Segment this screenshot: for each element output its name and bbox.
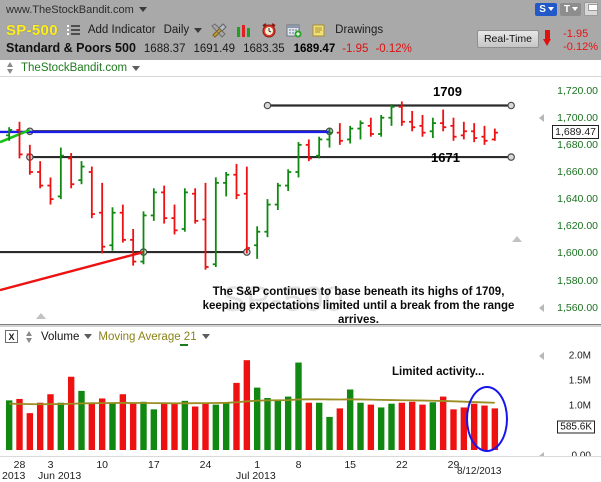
quote-low: 1683.35	[243, 43, 285, 55]
quote-change-pct: -0.12%	[375, 43, 411, 55]
chevron-down-icon[interactable]	[202, 334, 210, 339]
updown-arrows-icon[interactable]	[6, 62, 15, 74]
last-date-label: 8/12/2013	[457, 466, 502, 477]
scroll-up-icon-2[interactable]	[36, 313, 46, 319]
close-volume-button[interactable]: X	[5, 330, 18, 343]
url-bar: www.TheStockBandit.com S T	[0, 0, 601, 19]
current-price-tag: 1,689.47	[552, 125, 599, 139]
price-axis-label: 1,620.00	[557, 220, 598, 232]
pane-divider-shadow	[0, 325, 601, 327]
tools-icon[interactable]	[211, 23, 227, 38]
site-row: TheStockBandit.com	[0, 60, 601, 77]
volume-chart-pane[interactable]	[0, 346, 601, 456]
axis-tick-marker	[539, 304, 544, 312]
support-level-label: 1671	[431, 150, 460, 165]
window-controls: S T	[535, 2, 598, 16]
price-axis-label: 1,580.00	[557, 275, 598, 287]
price-axis-label: 1,600.00	[557, 247, 598, 259]
site-url[interactable]: www.TheStockBandit.com	[6, 4, 134, 16]
site-row-label[interactable]: TheStockBandit.com	[21, 62, 127, 74]
price-axis-label: 1,720.00	[557, 85, 598, 97]
month-axis-label: 2013	[2, 470, 25, 482]
date-axis[interactable]: 283101724181522292013Jun 2013Jul 20138/1…	[0, 456, 601, 482]
bar-chart-icon[interactable]	[236, 23, 252, 38]
price-axis-label: 1,660.00	[557, 166, 598, 178]
instrument-name: Standard & Poors 500	[6, 41, 136, 55]
volume-axis[interactable]: 2.0M1.5M1.0M0.00585.6K	[529, 340, 601, 460]
month-axis-label: Jun 2013	[38, 470, 81, 482]
down-arrow-icon	[543, 30, 552, 47]
volume-axis-label: 1.5M	[569, 376, 591, 387]
price-axis[interactable]: 1,720.001,700.001,680.001,660.001,640.00…	[529, 77, 601, 324]
date-axis-label: 10	[96, 459, 108, 471]
resistance-level-label: 1709	[433, 84, 462, 99]
updown-arrows-icon[interactable]	[25, 331, 34, 343]
price-axis-label: 1,560.00	[557, 302, 598, 314]
date-axis-label: 15	[344, 459, 356, 471]
quote-open: 1688.37	[144, 43, 186, 55]
chevron-down-icon[interactable]	[139, 7, 147, 12]
quote-last: 1689.47	[294, 43, 336, 55]
save-disk-icon[interactable]	[584, 2, 598, 16]
real-time-button[interactable]: Real-Time	[477, 30, 539, 48]
volume-header: X Volume Moving Average 21	[0, 328, 601, 345]
alarm-clock-icon[interactable]	[261, 23, 277, 38]
date-axis-label: 22	[396, 459, 408, 471]
volume-annotation: Limited activity...	[392, 366, 484, 378]
badge-t-icon[interactable]: T	[560, 3, 581, 16]
price-axis-label: 1,700.00	[557, 112, 598, 124]
timeframe-select[interactable]: Daily	[164, 24, 190, 36]
price-axis-label: 1,680.00	[557, 139, 598, 151]
date-axis-label: 24	[200, 459, 212, 471]
watchlist-icon[interactable]	[67, 25, 80, 36]
volume-highlight-ellipse	[466, 386, 508, 452]
chevron-down-icon[interactable]	[84, 334, 92, 339]
volume-ma-label[interactable]: Moving Average 21	[98, 331, 196, 343]
add-indicator-button[interactable]: Add Indicator	[88, 24, 156, 36]
volume-series	[0, 346, 601, 456]
volume-axis-label: 2.0M	[569, 351, 591, 362]
chevron-down-icon[interactable]	[132, 66, 140, 71]
stock-chart-app: www.TheStockBandit.com S T SP-500 Add In…	[0, 0, 601, 482]
header-change-pct: -0.12%	[563, 41, 598, 54]
quote-high: 1691.49	[193, 43, 235, 55]
volume-axis-label: 1.0M	[569, 401, 591, 412]
symbol-label[interactable]: SP-500	[6, 22, 58, 39]
date-axis-label: 17	[148, 459, 160, 471]
quote-change: -1.95	[342, 43, 368, 55]
badge-s-icon[interactable]: S	[535, 3, 557, 16]
current-volume-tag: 585.6K	[557, 420, 595, 433]
chevron-down-icon[interactable]	[194, 28, 202, 33]
drawings-button[interactable]: Drawings	[335, 24, 383, 36]
axis-tick-marker	[539, 352, 544, 360]
calendar-add-icon[interactable]	[286, 23, 302, 38]
axis-tick-marker	[539, 114, 544, 122]
price-axis-label: 1,640.00	[557, 193, 598, 205]
date-axis-label: 8	[296, 459, 302, 471]
notes-icon[interactable]	[311, 23, 327, 38]
price-annotation: The S&P continues to base beneath its hi…	[201, 285, 516, 327]
header-change-abs: -1.95	[563, 28, 598, 41]
scroll-up-icon[interactable]	[512, 236, 522, 242]
header-change: -1.95 -0.12%	[563, 28, 598, 54]
month-axis-label: Jul 2013	[236, 470, 276, 482]
volume-title[interactable]: Volume	[41, 331, 79, 343]
